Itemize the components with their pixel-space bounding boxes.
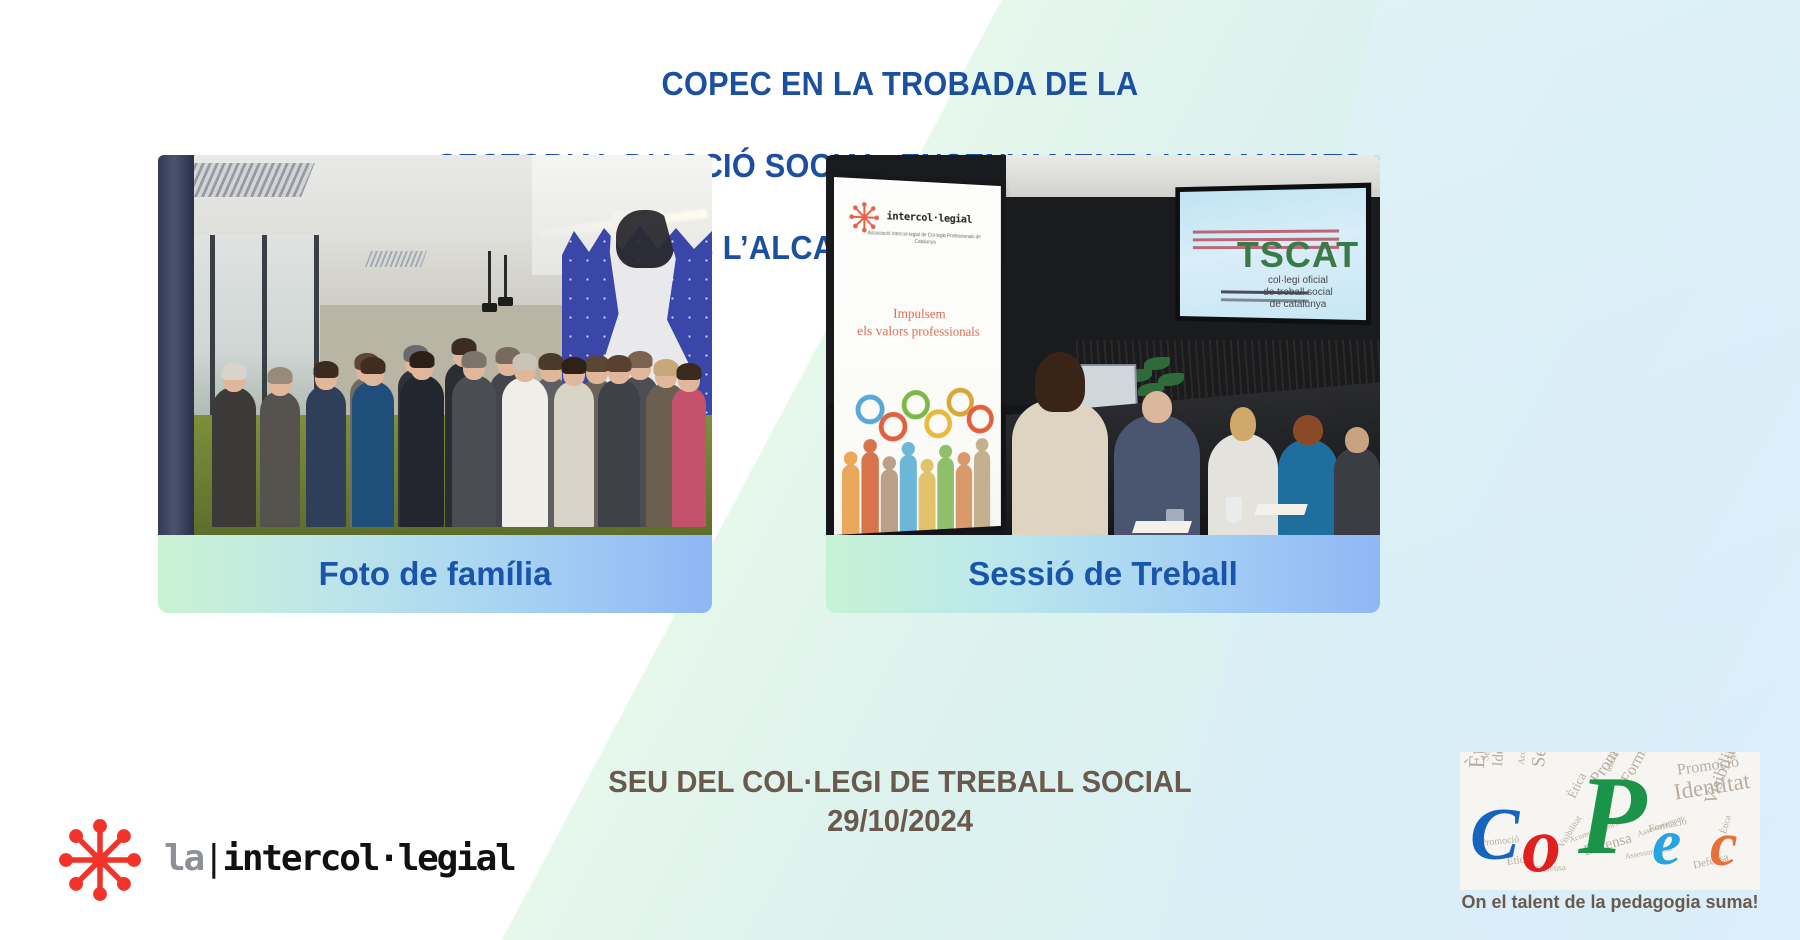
person — [260, 391, 300, 527]
person-seated — [1114, 415, 1200, 535]
person-silhouette — [842, 464, 860, 534]
person-silhouette — [937, 457, 954, 529]
person — [306, 385, 346, 527]
tscat-logo: TSCAT col·legi oficial de treball social… — [1222, 237, 1374, 311]
slide-body-text — [1193, 229, 1339, 233]
person-seated — [1278, 439, 1338, 535]
paper-document — [1132, 521, 1192, 533]
person — [400, 375, 444, 527]
rollup-banner: intercol·legial Associació Intercol·legi… — [834, 177, 1001, 535]
person-silhouette — [919, 471, 936, 530]
tscat-name: TSCAT — [1222, 237, 1374, 273]
people-group — [202, 277, 702, 527]
copec-letter-P: P — [1578, 760, 1646, 872]
air-vent-icon — [181, 163, 315, 197]
wordmark-prefix: la — [164, 838, 203, 879]
person — [598, 379, 640, 527]
title-line-1: COPEC EN LA TROBADA DE LA — [63, 63, 1737, 104]
person-silhouette — [900, 454, 917, 531]
wordmark-bar: | — [203, 838, 222, 879]
tscat-subtitle-line-3: de catalunya — [1222, 299, 1374, 311]
copec-word-cloud: Ètica Identitat Serveis Promoció Formaci… — [1460, 752, 1760, 890]
person-silhouette — [956, 464, 972, 528]
air-vent-secondary-icon — [365, 251, 427, 267]
copec-letter-e: e — [1652, 810, 1681, 876]
slide-canvas: COPEC EN LA TROBADA DE LA SECTORIAL D’AC… — [0, 0, 1800, 940]
group-photo — [158, 155, 712, 535]
door-frame — [158, 155, 194, 535]
tscat-subtitle-line-1: col·legi oficial — [1222, 275, 1374, 287]
banner-slogan-line-2: els valors professionals — [834, 323, 1001, 342]
intercollegial-wordmark: la|intercol·legial — [164, 838, 515, 879]
wordmark-name: intercol·legial — [222, 838, 514, 879]
tscat-subtitle-line-2: de treball social — [1222, 287, 1374, 299]
person — [502, 377, 548, 527]
caption-foto-de-familia: Foto de família — [158, 535, 712, 613]
tscat-subtitle: col·legi oficial de treball social de ca… — [1222, 275, 1374, 311]
copec-letters: C o P e c — [1460, 752, 1760, 890]
copec-letter-o: o — [1522, 806, 1561, 884]
copec-letter-c: c — [1710, 814, 1738, 876]
copec-tagline: On el talent de la pedagogia suma! — [1460, 892, 1760, 913]
paper-document — [1254, 504, 1308, 515]
person — [672, 387, 706, 527]
work-session-photo: intercol·legial Associació Intercol·legi… — [826, 155, 1380, 535]
intercollegial-star-icon — [54, 814, 146, 906]
person-silhouette — [974, 450, 990, 527]
intercollegial-logo: la|intercol·legial — [52, 812, 452, 908]
gear-icon — [967, 405, 994, 434]
banner-subtitle: Associació Intercol·legial de Col·legis … — [863, 230, 984, 248]
gear-icon — [879, 412, 908, 442]
wine-glass — [1226, 497, 1242, 523]
person — [452, 375, 496, 527]
caption-sessio-de-treball: Sessió de Treball — [826, 535, 1380, 613]
person-silhouette — [861, 452, 878, 534]
person-seated — [1208, 433, 1278, 535]
person-silhouette — [881, 469, 898, 533]
banner-logo-text: intercol·legial — [886, 209, 972, 225]
person — [212, 387, 256, 527]
copec-logo: Ètica Identitat Serveis Promoció Formaci… — [1460, 752, 1760, 924]
person-seated — [1334, 447, 1380, 535]
person — [554, 381, 594, 527]
copec-letter-C: C — [1470, 798, 1519, 872]
card-foto-de-familia: Foto de família — [158, 155, 712, 613]
banner-slogan-line-1: Impulsem — [834, 305, 1001, 325]
person-seated — [1012, 400, 1108, 535]
card-sessio-de-treball: intercol·legial Associació Intercol·legi… — [826, 155, 1380, 613]
gear-icon — [924, 409, 952, 439]
banner-slogan: Impulsem els valors professionals — [834, 305, 1001, 342]
person — [352, 381, 394, 527]
